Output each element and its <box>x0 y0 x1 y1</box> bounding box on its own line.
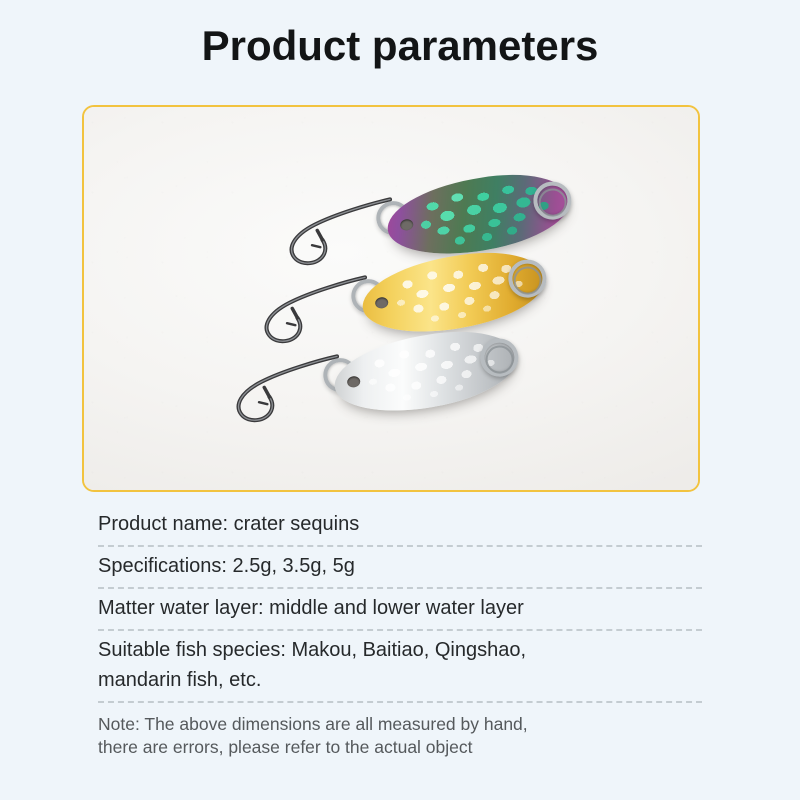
page-title: Product parameters <box>0 18 800 74</box>
product-image-panel <box>82 105 700 492</box>
spec-row-suitable-fish-species: Suitable fish species: Makou, Baitiao, Q… <box>98 631 702 701</box>
spec-row-product-name: Product name: crater sequins <box>98 505 702 545</box>
spec-row-matter-water-layer: Matter water layer: middle and lower wat… <box>98 589 702 629</box>
spec-note: Note: The above dimensions are all measu… <box>98 703 702 759</box>
spec-list: Product name: crater sequins Specificati… <box>98 505 702 759</box>
spec-row-specifications: Specifications: 2.5g, 3.5g, 5g <box>98 547 702 587</box>
